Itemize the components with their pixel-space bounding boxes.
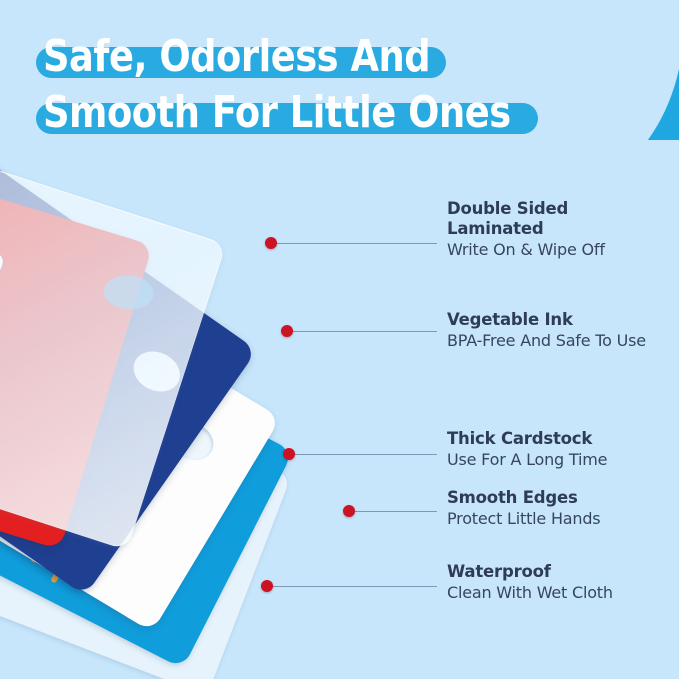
leader-line-3 — [294, 454, 437, 455]
callout-4-subtitle: Protect Little Hands — [447, 508, 600, 529]
callout-3-title: Thick Cardstock — [447, 429, 607, 449]
callout-dot-2 — [281, 325, 293, 337]
callout-5-title: Waterproof — [447, 562, 613, 582]
callout-1-title-line2: Laminated — [447, 219, 605, 239]
callout-2: Vegetable Ink BPA-Free And Safe To Use — [447, 310, 646, 351]
callout-2-title: Vegetable Ink — [447, 310, 646, 330]
headline-line-1: Safe, Odorless And — [36, 33, 596, 85]
callout-dot-4 — [343, 505, 355, 517]
callout-1-subtitle: Write On & Wipe Off — [447, 239, 605, 260]
punch-hole-icon — [103, 274, 155, 311]
callout-5-subtitle: Clean With Wet Cloth — [447, 582, 613, 603]
callout-4-title: Smooth Edges — [447, 488, 600, 508]
infographic-canvas: Safe, Odorless And Smooth For Little One… — [0, 0, 679, 679]
callout-3: Thick Cardstock Use For A Long Time — [447, 429, 607, 470]
callout-4: Smooth Edges Protect Little Hands — [447, 488, 600, 529]
callout-2-subtitle: BPA-Free And Safe To Use — [447, 330, 646, 351]
headline-block: Safe, Odorless And Smooth For Little One… — [36, 33, 596, 145]
callout-5: Waterproof Clean With Wet Cloth — [447, 562, 613, 603]
callout-dot-1 — [265, 237, 277, 249]
headline-text-1: Safe, Odorless And — [43, 31, 430, 83]
leader-line-5 — [272, 586, 437, 587]
callout-1: Double Sided Laminated Write On & Wipe O… — [447, 199, 605, 260]
callout-dot-3 — [283, 448, 295, 460]
callout-3-subtitle: Use For A Long Time — [447, 449, 607, 470]
callout-dot-5 — [261, 580, 273, 592]
leader-line-4 — [354, 511, 437, 512]
headline-text-2: Smooth For Little Ones — [43, 87, 511, 139]
flashcard-stack: Rojo — [0, 195, 400, 665]
headline-line-2: Smooth For Little Ones — [36, 89, 596, 141]
leader-line-1 — [277, 243, 437, 244]
callout-1-title-line1: Double Sided — [447, 199, 605, 219]
leader-line-2 — [292, 331, 437, 332]
